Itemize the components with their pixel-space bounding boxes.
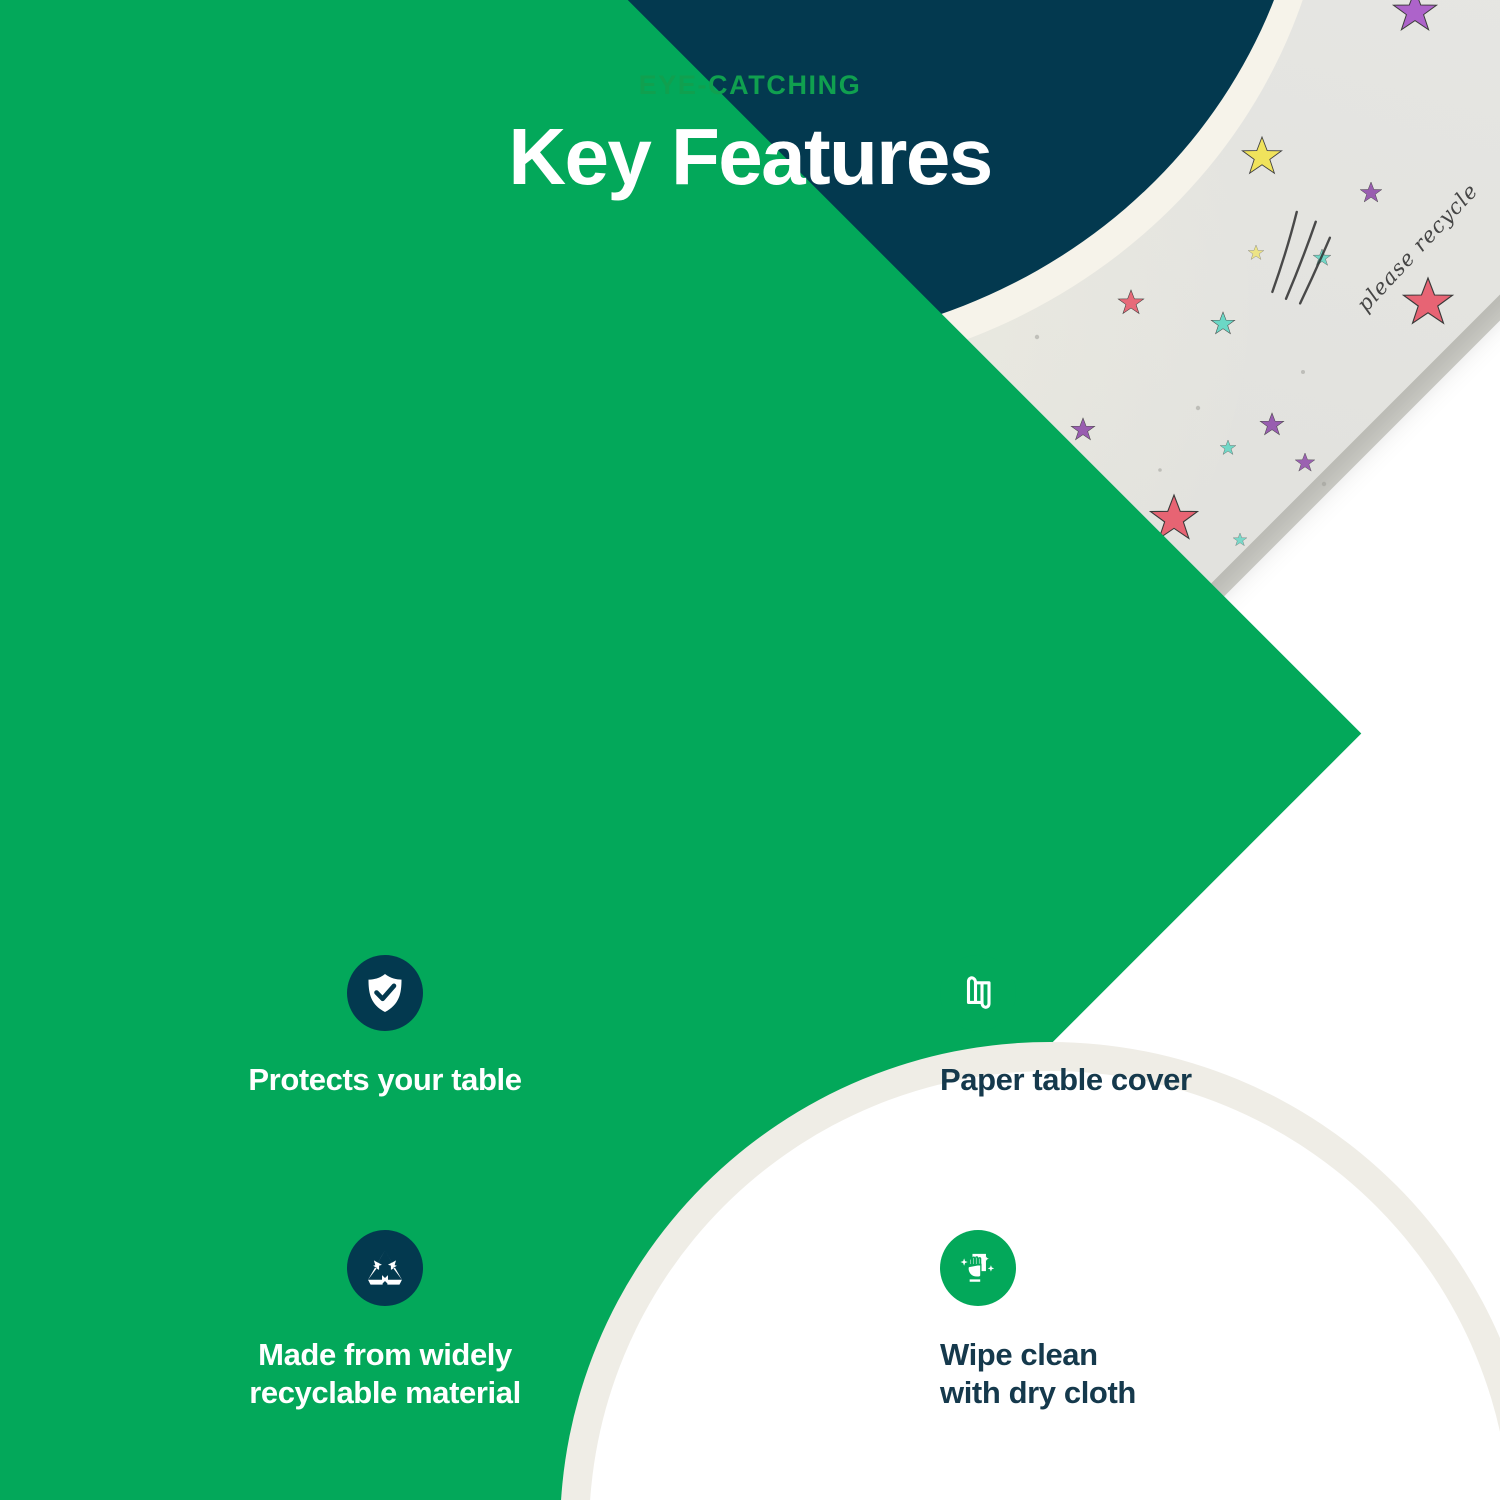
recycle-icon xyxy=(347,1230,423,1306)
feature-item-protects-your-table: Protects your table xyxy=(135,955,635,1099)
feature-label: Wipe clean with dry cloth xyxy=(850,1336,1350,1412)
wipe-clean-icon xyxy=(940,1230,1016,1306)
feature-item-wipe-clean: Wipe clean with dry cloth xyxy=(850,1230,1350,1412)
product-infographic: please recycle EYE-CATCHING Key Features… xyxy=(0,0,1500,1500)
wipe-clean-glyph xyxy=(955,1245,1001,1291)
recycle-glyph xyxy=(362,1245,408,1291)
feature-item-paper-table-cover: Paper table cover xyxy=(850,955,1350,1099)
feature-label: Made from widely recyclable material xyxy=(135,1336,635,1412)
header-eyebrow: EYE-CATCHING xyxy=(191,70,1309,101)
feature-item-recyclable-material: Made from widely recyclable material xyxy=(135,1230,635,1412)
feature-label: Paper table cover xyxy=(850,1061,1350,1099)
page-title: Key Features xyxy=(191,111,1309,203)
header: EYE-CATCHING Key Features xyxy=(191,70,1309,203)
feature-label: Protects your table xyxy=(135,1061,635,1099)
paper-scroll-icon xyxy=(940,955,1016,1031)
shield-check-glyph xyxy=(363,971,407,1015)
shield-check-icon xyxy=(347,955,423,1031)
paper-scroll-glyph xyxy=(956,971,1000,1015)
